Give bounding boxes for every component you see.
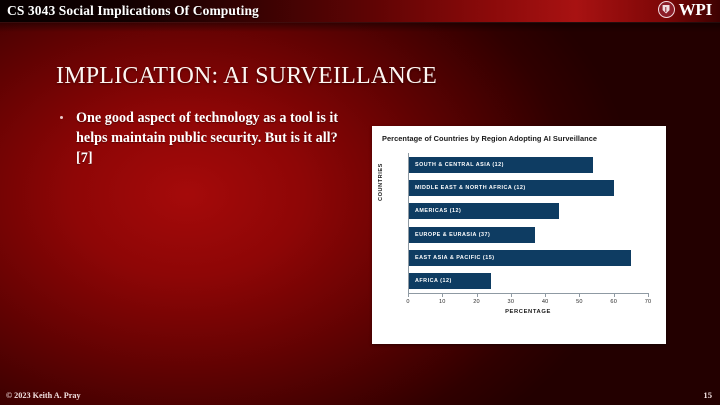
chart-bar: MIDDLE EAST & NORTH AFRICA (12) [409,180,614,196]
chart-bar-label: AFRICA (12) [409,278,452,284]
chart-x-tick [511,293,512,297]
wpi-logo: WPI [658,1,712,18]
footer-copyright: © 2023 Keith A. Pray [6,391,81,400]
chart-x-tick [442,293,443,297]
chart-bar: SOUTH & CENTRAL ASIA (12) [409,157,593,173]
chart-y-axis-label: COUNTRIES [378,163,384,201]
chart-bar-label: MIDDLE EAST & NORTH AFRICA (12) [409,185,526,191]
chart-bar: EAST ASIA & PACIFIC (15) [409,250,631,266]
chart-x-tick [477,293,478,297]
chart-x-tick [408,293,409,297]
chart-x-tick [579,293,580,297]
chart-bar: EUROPE & EURASIA (37) [409,227,535,243]
chart-x-tick-label: 70 [645,299,652,305]
chart-bar-label: EAST ASIA & PACIFIC (15) [409,255,495,261]
chart-x-tick-label: 0 [406,299,409,305]
chart-bar-row: AFRICA (12) [409,270,648,293]
chart-bar: AFRICA (12) [409,273,491,289]
wpi-wordmark: WPI [679,1,712,18]
chart-x-tick-label: 20 [473,299,480,305]
chart-x-tick-label: 40 [542,299,549,305]
chart-x-tick [614,293,615,297]
chart-bar-label: EUROPE & EURASIA (37) [409,232,490,238]
chart-x-tick [648,293,649,297]
chart-title: Percentage of Countries by Region Adopti… [382,134,656,143]
chart-bar-label: AMERICAS (12) [409,208,461,214]
chart-bar-label: SOUTH & CENTRAL ASIA (12) [409,162,504,168]
chart-x-tick-label: 50 [576,299,583,305]
wpi-seal-icon [658,1,675,18]
bullet-list: One good aspect of technology as a tool … [58,108,344,168]
presentation-slide: CS 3043 Social Implications Of Computing… [0,0,720,405]
slide-title: IMPLICATION: AI SURVEILLANCE [56,63,437,90]
chart-x-tick-label: 30 [508,299,515,305]
chart-bar-row: SOUTH & CENTRAL ASIA (12) [409,153,648,176]
chart-bar-row: EAST ASIA & PACIFIC (15) [409,246,648,269]
chart-x-tick-label: 60 [610,299,617,305]
chart-bars-container: SOUTH & CENTRAL ASIA (12)MIDDLE EAST & N… [408,153,648,293]
chart-x-axis: 010203040506070 [408,293,648,294]
chart-x-axis-label: PERCENTAGE [408,309,648,315]
footer-page-number: 15 [703,390,712,400]
chart-plot-area: COUNTRIES SOUTH & CENTRAL ASIA (12)MIDDL… [380,149,656,335]
chart-bar-row: EUROPE & EURASIA (37) [409,223,648,246]
chart-bar-row: MIDDLE EAST & NORTH AFRICA (12) [409,176,648,199]
chart-x-tick-label: 10 [439,299,446,305]
bullet-dot-icon [60,116,63,119]
bullet-item: One good aspect of technology as a tool … [58,108,344,168]
chart-x-tick [545,293,546,297]
chart-card: Percentage of Countries by Region Adopti… [372,126,666,344]
chart-bar: AMERICAS (12) [409,203,559,219]
bullet-text: One good aspect of technology as a tool … [76,110,338,166]
chart-bar-row: AMERICAS (12) [409,200,648,223]
course-title: CS 3043 Social Implications Of Computing [7,3,259,19]
